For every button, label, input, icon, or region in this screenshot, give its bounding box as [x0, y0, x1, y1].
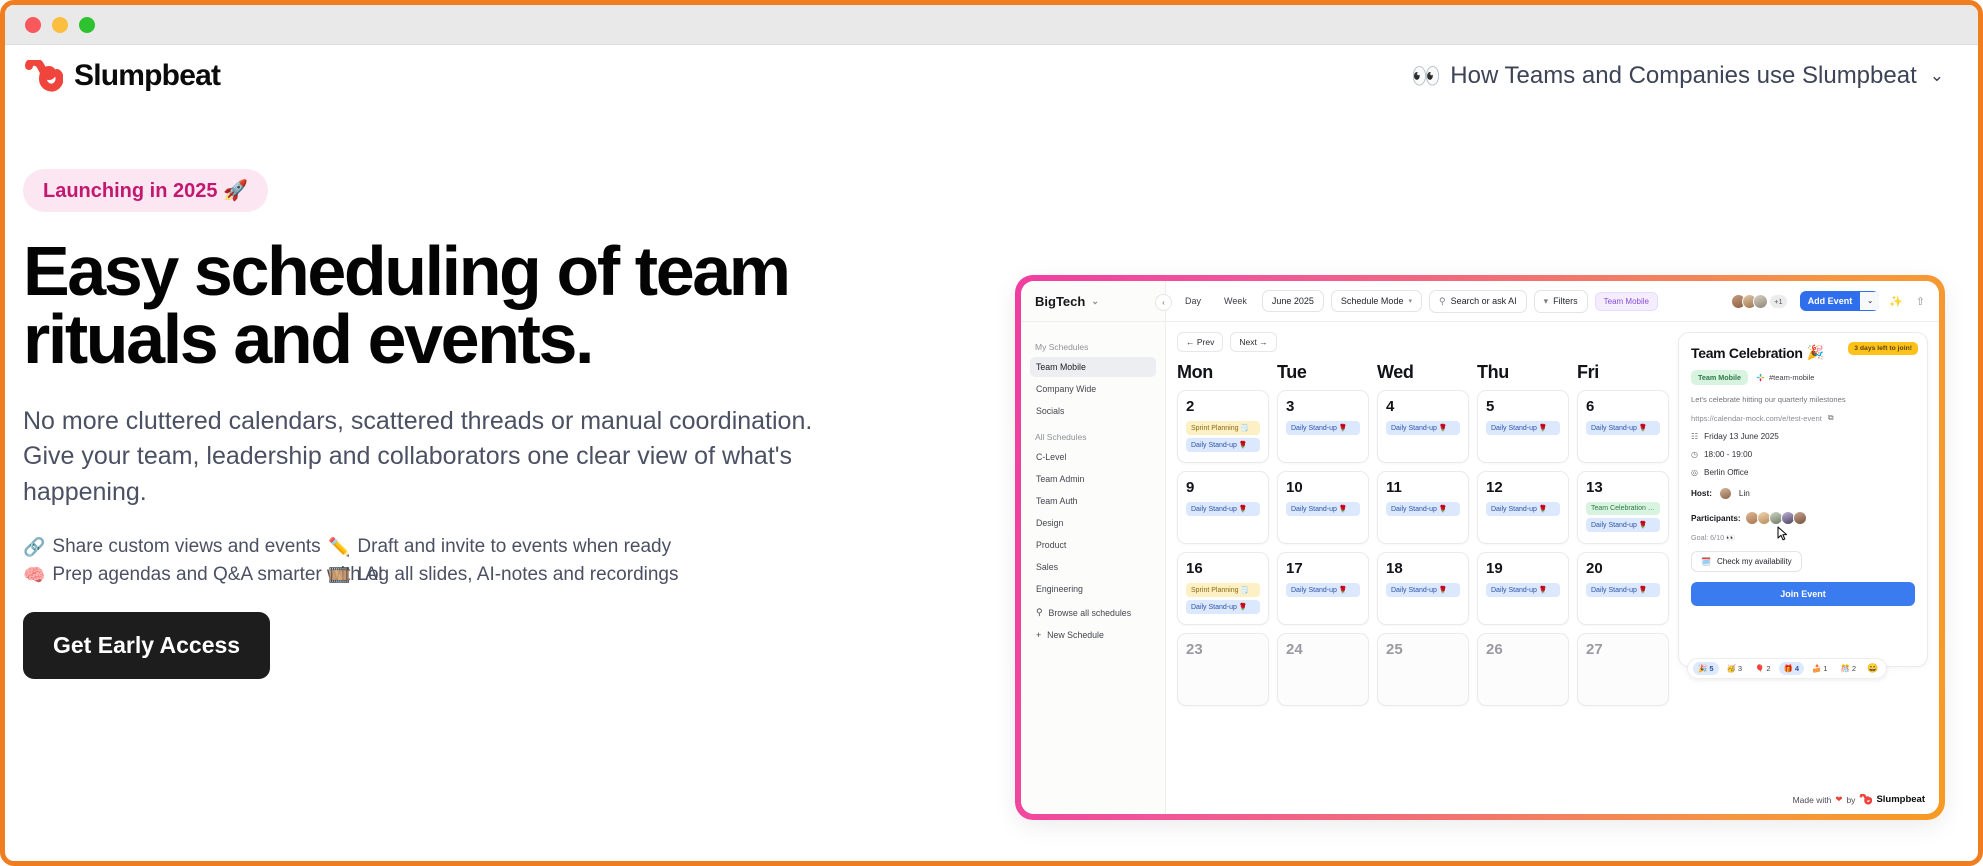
balloon-icon: 🎈	[1755, 664, 1764, 673]
day-cell[interactable]: 19 Daily Stand-up 🌹	[1477, 552, 1569, 625]
calendar-grid: ← Prev Next → Mon Tue Wed Thu Fri	[1177, 332, 1669, 814]
day-cell[interactable]: 2 Sprint Planning 🗒️ Daily Stand-up 🌹	[1177, 390, 1269, 463]
pencil-icon: ✏️	[328, 537, 350, 558]
sidebar-item-socials[interactable]: Socials	[1030, 401, 1156, 421]
eyes-icon: 👀	[1411, 62, 1441, 91]
browser-window: Slumpbeat 👀 How Teams and Companies use …	[0, 0, 1983, 866]
event-chip[interactable]: Sprint Planning 🗒️	[1186, 421, 1260, 435]
day-cell[interactable]: 18 Daily Stand-up 🌹	[1377, 552, 1469, 625]
day-number: 25	[1386, 641, 1460, 658]
add-reaction-icon[interactable]: 😀	[1864, 662, 1881, 675]
reaction-chip[interactable]: 🎈 2	[1750, 662, 1776, 675]
event-title-text: Team Celebration	[1691, 345, 1803, 361]
check-availability-button[interactable]: 🗓️ Check my availability	[1691, 551, 1802, 572]
new-schedule-label: New Schedule	[1047, 630, 1104, 640]
sidebar-item-company-wide[interactable]: Company Wide	[1030, 379, 1156, 399]
event-participants-row: Participants:	[1691, 511, 1915, 525]
day-cell[interactable]: 12 Daily Stand-up 🌹	[1477, 471, 1569, 544]
day-number: 6	[1586, 398, 1660, 415]
event-chip[interactable]: Daily Stand-up 🌹	[1386, 502, 1460, 516]
calendar-week-row: 23 24 25 26 27	[1177, 633, 1669, 706]
schedule-mode-label: Schedule Mode	[1341, 296, 1404, 306]
day-cell[interactable]: 20 Daily Stand-up 🌹	[1577, 552, 1669, 625]
brand-name: Slumpbeat	[74, 59, 220, 93]
day-cell[interactable]: 13 Team Celebration … Daily Stand-up 🌹	[1577, 471, 1669, 544]
event-chip[interactable]: Daily Stand-up 🌹	[1286, 421, 1360, 435]
maximize-icon[interactable]	[79, 17, 95, 33]
day-cell[interactable]: 5 Daily Stand-up 🌹	[1477, 390, 1569, 463]
slack-channel[interactable]: #team-mobile	[1756, 373, 1814, 382]
day-cell[interactable]: 26	[1477, 633, 1569, 706]
partying-face-icon: 🥳	[1727, 664, 1736, 673]
day-number: 12	[1486, 479, 1560, 496]
calendar-week-row: 9 Daily Stand-up 🌹 10 Daily Stand-up 🌹 1…	[1177, 471, 1669, 544]
day-header-fri: Fri	[1577, 362, 1669, 383]
reaction-chip[interactable]: 🍰 1	[1807, 662, 1833, 675]
brand-logo[interactable]: Slumpbeat	[23, 59, 220, 93]
slumpbeat-logo-icon	[23, 60, 63, 92]
copy-icon[interactable]: ⧉	[1828, 413, 1834, 423]
event-description: Let's celebrate hitting our quarterly mi…	[1691, 395, 1915, 404]
day-number: 16	[1186, 560, 1260, 577]
prev-button[interactable]: ← Prev	[1177, 332, 1223, 352]
calendar-icon: ☷	[1691, 432, 1698, 441]
event-goal: Goal: 6/10 👀	[1691, 533, 1915, 542]
day-header-mon: Mon	[1177, 362, 1269, 383]
calendar-week-row: 16 Sprint Planning 🗒️ Daily Stand-up 🌹 1…	[1177, 552, 1669, 625]
feature-list: 🔗 Share custom views and events ✏️ Draft…	[23, 536, 843, 586]
reaction-count: 4	[1795, 664, 1799, 673]
sidebar-item-design[interactable]: Design	[1030, 513, 1156, 533]
event-date: Friday 13 June 2025	[1704, 432, 1779, 441]
view-week-button[interactable]: Week	[1216, 291, 1255, 311]
reaction-chip[interactable]: 🎁 4	[1779, 662, 1805, 675]
avatar-overflow-count: +1	[1770, 295, 1787, 308]
calendar-check-icon: 🗓️	[1701, 557, 1711, 566]
org-name: BigTech	[1035, 294, 1085, 309]
app-sidebar: BigTech ⌄ My Schedules Team Mobile Compa…	[1021, 281, 1166, 814]
get-early-access-button[interactable]: Get Early Access	[23, 612, 270, 679]
film-icon: 🎞️	[328, 565, 350, 586]
event-host-row: Host: Lin	[1691, 487, 1915, 500]
day-cell[interactable]: 9 Daily Stand-up 🌹	[1177, 471, 1269, 544]
made-with-footer: Made with ❤ by Slumpbeat	[1789, 792, 1929, 807]
day-number: 13	[1586, 479, 1660, 496]
avatar	[1753, 294, 1768, 309]
sparkle-icon[interactable]: ✨	[1886, 295, 1906, 308]
calendar-nav: ← Prev Next →	[1177, 332, 1669, 352]
day-number: 2	[1186, 398, 1260, 415]
filters-label: Filters	[1553, 296, 1578, 306]
participants-label: Participants:	[1691, 514, 1741, 523]
reaction-count: 3	[1738, 664, 1742, 673]
day-number: 23	[1186, 641, 1260, 658]
event-chip[interactable]: Sprint Planning 🗒️	[1186, 583, 1260, 597]
sidebar-item-team-auth[interactable]: Team Auth	[1030, 491, 1156, 511]
schedule-mode-dropdown[interactable]: Schedule Mode ▾	[1331, 290, 1422, 312]
event-time: 18:00 - 19:00	[1704, 450, 1752, 459]
event-chip[interactable]: Daily Stand-up 🌹	[1186, 502, 1260, 516]
filters-button[interactable]: ▾ Filters	[1534, 290, 1588, 313]
slumpbeat-logo-icon	[1859, 794, 1872, 805]
day-number: 18	[1386, 560, 1460, 577]
event-chip[interactable]: Daily Stand-up 🌹	[1186, 438, 1260, 452]
event-chip[interactable]: Daily Stand-up 🌹	[1286, 583, 1360, 597]
next-button[interactable]: Next →	[1230, 332, 1276, 352]
event-chip[interactable]: Daily Stand-up 🌹	[1186, 600, 1260, 614]
mouse-cursor-icon	[1777, 526, 1788, 541]
sidebar-item-c-level[interactable]: C-Level	[1030, 447, 1156, 467]
minimize-icon[interactable]	[52, 17, 68, 33]
day-number: 26	[1486, 641, 1560, 658]
event-chip[interactable]: Daily Stand-up 🌹	[1586, 421, 1660, 435]
app-mockup: BigTech ⌄ My Schedules Team Mobile Compa…	[1015, 275, 1945, 820]
day-cell[interactable]: 10 Daily Stand-up 🌹	[1277, 471, 1369, 544]
host-label: Host:	[1691, 489, 1712, 498]
schedule-tag[interactable]: Team Mobile	[1691, 370, 1748, 385]
app-toolbar: Day Week June 2025 Schedule Mode ▾ ⚲ Sea…	[1166, 281, 1939, 322]
share-icon[interactable]: ⇧	[1913, 295, 1928, 308]
event-chip[interactable]: Team Celebration …	[1586, 502, 1660, 515]
heart-icon: ❤	[1835, 794, 1842, 805]
active-schedule-chip[interactable]: Team Mobile	[1595, 292, 1658, 311]
day-cell[interactable]: 6 Daily Stand-up 🌹	[1577, 390, 1669, 463]
reaction-chip[interactable]: 🎉 5	[1693, 662, 1719, 675]
day-number: 10	[1286, 479, 1360, 496]
hero-copy: Launching in 2025 🚀 Easy scheduling of t…	[5, 169, 1005, 679]
month-label: June 2025	[1272, 296, 1314, 306]
feature-item: 🧠 Prep agendas and Q&A smarter with AI	[23, 564, 328, 586]
event-chip[interactable]: Daily Stand-up 🌹	[1486, 583, 1560, 597]
reaction-chip[interactable]: 🎊 2	[1836, 662, 1862, 675]
view-day-button[interactable]: Day	[1177, 291, 1209, 311]
plus-icon: +	[1036, 630, 1041, 640]
event-time-row: ◷ 18:00 - 19:00	[1691, 450, 1915, 459]
day-number: 11	[1386, 479, 1460, 496]
day-cell[interactable]: 4 Daily Stand-up 🌹	[1377, 390, 1469, 463]
day-number: 17	[1286, 560, 1360, 577]
host-name: Lin	[1739, 489, 1750, 498]
event-location: Berlin Office	[1704, 468, 1748, 477]
chevron-down-icon[interactable]: ⌄	[1860, 292, 1879, 310]
month-selector[interactable]: June 2025	[1262, 290, 1324, 312]
day-number: 19	[1486, 560, 1560, 577]
channel-name: #team-mobile	[1769, 373, 1814, 382]
event-chip[interactable]: Daily Stand-up 🌹	[1286, 502, 1360, 516]
event-link[interactable]: https://calendar-mock.com/e/test-event	[1691, 414, 1822, 423]
reaction-count: 2	[1852, 664, 1856, 673]
location-pin-icon: ◎	[1691, 468, 1698, 477]
sidebar-item-team-mobile[interactable]: Team Mobile	[1030, 357, 1156, 377]
collapse-sidebar-button[interactable]: ‹	[1155, 294, 1172, 311]
day-number: 5	[1486, 398, 1560, 415]
day-cell[interactable]: 11 Daily Stand-up 🌹	[1377, 471, 1469, 544]
link-icon: 🔗	[23, 537, 45, 558]
day-header-wed: Wed	[1377, 362, 1469, 383]
search-icon: ⚲	[1439, 296, 1446, 307]
day-number: 9	[1186, 479, 1260, 496]
search-placeholder: Search or ask AI	[1451, 296, 1517, 306]
reaction-chip[interactable]: 🥳 3	[1722, 662, 1748, 675]
feature-label: Draft and invite to events when ready	[357, 536, 671, 558]
brain-icon: 🧠	[23, 565, 45, 586]
feature-item: 🔗 Share custom views and events	[23, 536, 328, 558]
attendee-avatars[interactable]: +1	[1731, 294, 1787, 309]
event-date-row: ☷ Friday 13 June 2025	[1691, 432, 1915, 441]
day-cell[interactable]: 25	[1377, 633, 1469, 706]
event-chip[interactable]: Daily Stand-up 🌹	[1486, 502, 1560, 516]
sidebar-scroll: My Schedules Team Mobile Company Wide So…	[1021, 322, 1165, 646]
day-header-tue: Tue	[1277, 362, 1369, 383]
event-detail-panel: 3 days left to join! Team Celebration 🎉 …	[1678, 332, 1928, 667]
hero-subhead: No more cluttered calendars, scattered t…	[23, 404, 863, 511]
add-event-label: Add Event	[1800, 291, 1861, 311]
day-cell[interactable]: 3 Daily Stand-up 🌹	[1277, 390, 1369, 463]
avatar	[1793, 511, 1807, 525]
footer-brand: Slumpbeat	[1876, 794, 1925, 805]
event-chip[interactable]: Daily Stand-up 🌹	[1386, 583, 1460, 597]
reaction-count: 2	[1766, 664, 1770, 673]
check-availability-label: Check my availability	[1717, 557, 1792, 566]
avatar	[1719, 487, 1732, 500]
sidebar-item-team-admin[interactable]: Team Admin	[1030, 469, 1156, 489]
participant-avatars[interactable]	[1747, 511, 1807, 525]
made-with-label: Made with	[1793, 795, 1832, 805]
event-link-row[interactable]: https://calendar-mock.com/e/test-event ⧉	[1691, 413, 1915, 423]
day-header-thu: Thu	[1477, 362, 1569, 383]
gift-icon: 🎁	[1784, 664, 1793, 673]
reaction-bar: 🎉 5 🥳 3 🎈 2	[1687, 658, 1887, 679]
feature-item: ✏️ Draft and invite to events when ready	[328, 536, 843, 558]
new-schedule-button[interactable]: + New Schedule	[1030, 624, 1156, 646]
event-chip[interactable]: Daily Stand-up 🌹	[1386, 421, 1460, 435]
reaction-count: 1	[1823, 664, 1827, 673]
day-number: 27	[1586, 641, 1660, 658]
slack-icon	[1756, 373, 1765, 382]
browse-label: Browse all schedules	[1048, 608, 1131, 618]
launch-badge: Launching in 2025 🚀	[23, 169, 268, 212]
day-cell[interactable]: 27	[1577, 633, 1669, 706]
chevron-down-icon: ▾	[1408, 297, 1412, 305]
filter-icon: ▾	[1544, 296, 1549, 307]
page-title: Easy scheduling of team rituals and even…	[23, 238, 943, 374]
sidebar-group-title: My Schedules	[1030, 333, 1156, 357]
day-number: 20	[1586, 560, 1660, 577]
event-chip[interactable]: Daily Stand-up 🌹	[1486, 421, 1560, 435]
join-event-button[interactable]: Join Event	[1691, 582, 1915, 606]
search-icon: ⚲	[1036, 607, 1042, 618]
day-number: 24	[1286, 641, 1360, 658]
event-chip[interactable]: Daily Stand-up 🌹	[1586, 583, 1660, 597]
feature-label: Log all slides, AI-notes and recordings	[357, 564, 678, 586]
chevron-down-icon: ⌄	[1930, 66, 1944, 86]
add-event-button[interactable]: Add Event ⌄	[1800, 291, 1879, 311]
clock-icon: ◷	[1691, 450, 1698, 459]
day-number: 3	[1286, 398, 1360, 415]
feature-label: Share custom views and events	[52, 536, 320, 558]
window-titlebar	[5, 5, 1978, 45]
app-main: ‹ Day Week June 2025 Schedule Mode ▾ ⚲ S…	[1166, 281, 1939, 814]
party-popper-icon: 🎉	[1698, 664, 1707, 673]
sidebar-item-sales[interactable]: Sales	[1030, 557, 1156, 577]
close-icon[interactable]	[25, 17, 41, 33]
cake-icon: 🍰	[1812, 664, 1821, 673]
by-label: by	[1846, 795, 1855, 805]
party-popper-icon: 🎉	[1807, 344, 1824, 361]
event-chip[interactable]: Daily Stand-up 🌹	[1586, 518, 1660, 532]
reaction-count: 5	[1709, 664, 1713, 673]
day-cell[interactable]: 16 Sprint Planning 🗒️ Daily Stand-up 🌹	[1177, 552, 1269, 625]
days-left-badge: 3 days left to join!	[1848, 342, 1918, 355]
sidebar-item-engineering[interactable]: Engineering	[1030, 579, 1156, 599]
confetti-icon: 🎊	[1841, 664, 1850, 673]
event-tags: Team Mobile #team-mobile	[1691, 370, 1915, 385]
day-cell[interactable]: 17 Daily Stand-up 🌹	[1277, 552, 1369, 625]
nav-label: How Teams and Companies use Slumpbeat	[1450, 62, 1916, 90]
calendar-week-row: 2 Sprint Planning 🗒️ Daily Stand-up 🌹 3 …	[1177, 390, 1669, 463]
day-headers: Mon Tue Wed Thu Fri	[1177, 362, 1669, 383]
nav-how-teams-use[interactable]: 👀 How Teams and Companies use Slumpbeat …	[1411, 62, 1944, 91]
day-number: 4	[1386, 398, 1460, 415]
calendar-area: ← Prev Next → Mon Tue Wed Thu Fri	[1166, 322, 1939, 814]
event-location-row: ◎ Berlin Office	[1691, 468, 1915, 477]
org-switcher[interactable]: BigTech ⌄	[1021, 281, 1165, 322]
feature-item: 🎞️ Log all slides, AI-notes and recordin…	[328, 564, 843, 586]
sidebar-item-product[interactable]: Product	[1030, 535, 1156, 555]
site-header: Slumpbeat 👀 How Teams and Companies use …	[5, 45, 1978, 107]
search-input[interactable]: ⚲ Search or ask AI	[1429, 290, 1527, 313]
chevron-down-icon: ⌄	[1091, 296, 1099, 307]
sidebar-group-title: All Schedules	[1030, 423, 1156, 447]
day-cell[interactable]: 24	[1277, 633, 1369, 706]
day-cell[interactable]: 23	[1177, 633, 1269, 706]
browse-all-schedules-button[interactable]: ⚲ Browse all schedules	[1030, 601, 1156, 624]
